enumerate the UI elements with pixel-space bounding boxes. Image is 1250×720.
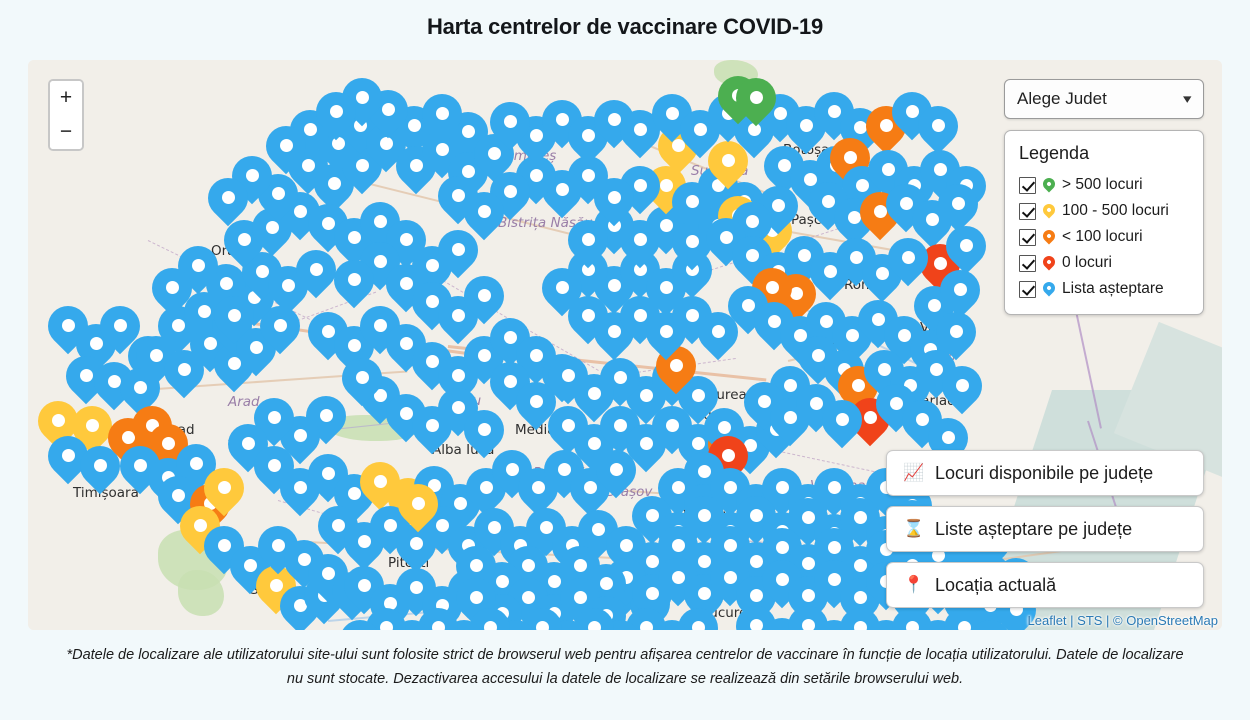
legend-item-label: Lista așteptare [1062, 280, 1164, 298]
pin-center-dot [374, 475, 387, 488]
pin-center-dot [348, 339, 361, 352]
pin-center-dot [462, 125, 475, 138]
map-marker-blue[interactable] [340, 620, 380, 630]
pin-center-dot [452, 309, 465, 322]
chevron-down-icon: ▾ [1183, 91, 1191, 107]
pin-center-dot [294, 481, 307, 494]
pin-center-dot [660, 219, 673, 232]
pin-center-dot [530, 395, 543, 408]
pin-center-dot [244, 559, 257, 572]
orange-pin-icon [1043, 229, 1055, 246]
pin-center-dot [218, 539, 231, 552]
pin-center-dot [672, 571, 685, 584]
pin-center-dot [934, 163, 947, 176]
pin-center-dot [672, 481, 685, 494]
pin-center-dot [694, 123, 707, 136]
pin-center-dot [274, 319, 287, 332]
pin-center-dot [358, 535, 371, 548]
pin-center-dot [952, 197, 965, 210]
chart-icon: 📈 [903, 463, 923, 483]
pin-center-dot [496, 575, 509, 588]
map-marker-blue[interactable] [296, 250, 336, 304]
pin-center-dot [820, 315, 833, 328]
pin-center-dot [828, 573, 841, 586]
pin-center-dot [310, 263, 323, 276]
pin-center-dot [470, 591, 483, 604]
pin-center-dot [634, 123, 647, 136]
pin-center-dot [426, 259, 439, 272]
pin-center-dot [776, 541, 789, 554]
pin-center-dot [800, 119, 813, 132]
pin-center-dot [478, 423, 491, 436]
pin-center-dot [864, 411, 877, 424]
pin-center-dot [750, 555, 763, 568]
pin-center-dot [928, 299, 941, 312]
pin-center-dot [478, 349, 491, 362]
map-marker-blue[interactable] [316, 92, 356, 146]
pin-center-dot [410, 581, 423, 594]
pin-center-dot [582, 129, 595, 142]
pin-center-dot [750, 589, 763, 602]
pin-center-dot [330, 105, 343, 118]
pin-center-dot [750, 91, 763, 104]
legend-item-3[interactable]: 0 locuri [1017, 250, 1191, 276]
pin-center-dot [850, 251, 863, 264]
pin-center-dot [906, 621, 919, 630]
action-button-label: Locuri disponibile pe județe [935, 463, 1153, 484]
pin-center-dot [400, 337, 413, 350]
pin-center-dot [876, 267, 889, 280]
legend-item-label: < 100 locuri [1062, 228, 1143, 246]
pin-center-dot [942, 431, 955, 444]
pin-center-dot [958, 621, 971, 630]
pin-center-dot [52, 414, 65, 427]
hourglass-icon: ⌛ [903, 519, 923, 539]
legend-rows: > 500 locuri100 - 500 locuri< 100 locuri… [1017, 172, 1191, 302]
map-marker-green[interactable] [736, 78, 776, 132]
pin-center-dot [954, 283, 967, 296]
legend-title: Legenda [1019, 143, 1191, 164]
pin-center-dot [556, 113, 569, 126]
pin-center-dot [410, 159, 423, 172]
pin-icon: 📍 [903, 575, 923, 595]
pin-center-dot [772, 199, 785, 212]
pin-center-dot [686, 309, 699, 322]
pin-center-dot [836, 413, 849, 426]
pin-center-dot [452, 243, 465, 256]
pin-center-dot [686, 195, 699, 208]
pin-center-dot [798, 249, 811, 262]
pin-center-dot [114, 319, 127, 332]
map-marker-blue[interactable] [888, 238, 928, 292]
legend-item-2[interactable]: < 100 locuri [1017, 224, 1191, 250]
pin-center-dot [666, 419, 679, 432]
pin-center-dot [374, 215, 387, 228]
pin-center-dot [698, 509, 711, 522]
pin-center-dot [810, 397, 823, 410]
pin-center-dot [742, 299, 755, 312]
map-marker-blue[interactable] [208, 178, 248, 232]
pin-center-dot [588, 387, 601, 400]
pin-center-dot [432, 621, 445, 630]
pin-center-dot [854, 621, 867, 630]
pin-center-dot [802, 619, 815, 630]
map-marker-blue[interactable] [548, 356, 588, 410]
pin-center-dot [272, 539, 285, 552]
pin-center-dot [776, 481, 789, 494]
pin-center-dot [294, 429, 307, 442]
pin-center-dot [882, 163, 895, 176]
pin-center-dot [746, 215, 759, 228]
pin-center-dot [724, 571, 737, 584]
pin-center-dot [660, 325, 673, 338]
pin-center-dot [890, 397, 903, 410]
pin-center-dot [348, 231, 361, 244]
pin-center-dot [646, 555, 659, 568]
pin-center-dot [408, 119, 421, 132]
pin-center-dot [356, 371, 369, 384]
pin-center-dot [724, 481, 737, 494]
pin-center-dot [220, 277, 233, 290]
pin-center-dot [504, 375, 517, 388]
pin-center-dot [588, 621, 601, 630]
pin-center-dot [592, 523, 605, 536]
pin-center-dot [322, 325, 335, 338]
pin-center-dot [640, 389, 653, 402]
map-marker-blue[interactable] [970, 620, 1010, 630]
legend-checkbox[interactable] [1019, 203, 1036, 220]
pin-center-dot [634, 179, 647, 192]
pin-center-dot [356, 91, 369, 104]
pin-center-dot [640, 621, 653, 630]
pin-center-dot [522, 559, 535, 572]
action-button-1[interactable]: ⌛Liste așteptare pe județe [886, 506, 1204, 552]
pin-center-dot [522, 591, 535, 604]
pin-center-dot [382, 103, 395, 116]
map-marker-blue[interactable] [152, 268, 192, 322]
pin-center-dot [802, 557, 815, 570]
pin-center-dot [574, 591, 587, 604]
pin-center-dot [268, 459, 281, 472]
pin-center-dot [426, 295, 439, 308]
pin-center-dot [698, 587, 711, 600]
pin-center-dot [950, 325, 963, 338]
pin-center-dot [758, 395, 771, 408]
action-button-label: Liste așteptare pe județe [935, 519, 1132, 540]
pin-center-dot [828, 481, 841, 494]
pin-center-dot [724, 539, 737, 552]
map-marker-blue[interactable] [542, 268, 582, 322]
pin-center-dot [646, 587, 659, 600]
pin-center-dot [822, 195, 835, 208]
pin-center-dot [556, 281, 569, 294]
zoom-in-button[interactable]: + [50, 81, 82, 115]
pin-center-dot [608, 279, 621, 292]
legend-checkbox[interactable] [1019, 281, 1036, 298]
action-button-label: Locația actuală [935, 575, 1056, 596]
red-pin-icon [1043, 255, 1055, 272]
pin-center-dot [178, 363, 191, 376]
pin-center-dot [956, 379, 969, 392]
pin-center-dot [588, 437, 601, 450]
pin-center-dot [322, 467, 335, 480]
pin-center-dot [698, 465, 711, 478]
pin-center-dot [960, 239, 973, 252]
pin-center-dot [746, 249, 759, 262]
map-marker-blue[interactable] [266, 126, 306, 180]
pin-center-dot [802, 511, 815, 524]
legend-checkbox[interactable] [1019, 177, 1036, 194]
pin-center-dot [86, 419, 99, 432]
pin-center-dot [358, 579, 371, 592]
pin-center-dot [228, 309, 241, 322]
map-container[interactable]: OradeaBihorAradAradTimișoaraTimișHunedoa… [28, 60, 1222, 630]
pin-center-dot [720, 231, 733, 244]
pin-center-dot [380, 621, 393, 630]
pin-center-dot [478, 289, 491, 302]
pin-center-dot [854, 121, 867, 134]
pin-center-dot [582, 233, 595, 246]
pin-center-dot [878, 363, 891, 376]
pin-center-dot [666, 107, 679, 120]
pin-center-dot [614, 371, 627, 384]
pin-center-dot [660, 179, 673, 192]
pin-center-dot [906, 105, 919, 118]
pin-center-dot [846, 329, 859, 342]
pin-center-dot [646, 509, 659, 522]
pin-center-dot [530, 349, 543, 362]
pin-center-dot [778, 159, 791, 172]
pin-center-dot [930, 363, 943, 376]
judet-select-wrapper: Alege Judet ▾ [1004, 79, 1204, 119]
pin-center-dot [480, 481, 493, 494]
pin-center-dot [900, 197, 913, 210]
pin-center-dot [80, 369, 93, 382]
pin-center-dot [854, 559, 867, 572]
pin-center-dot [620, 539, 633, 552]
legend-checkbox[interactable] [1019, 255, 1036, 272]
pin-center-dot [506, 463, 519, 476]
pin-center-dot [784, 379, 797, 392]
pin-center-dot [856, 179, 869, 192]
pin-center-dot [484, 621, 497, 630]
pin-center-dot [692, 621, 705, 630]
pin-center-dot [436, 107, 449, 120]
pin-center-dot [320, 409, 333, 422]
pin-center-dot [536, 621, 549, 630]
pin-center-dot [784, 411, 797, 424]
map-marker-blue[interactable] [822, 400, 862, 454]
map-marker-blue[interactable] [490, 102, 530, 156]
zoom-control[interactable]: + − [48, 79, 84, 151]
legend-item-1[interactable]: 100 - 500 locuri [1017, 198, 1191, 224]
pin-center-dot [768, 315, 781, 328]
pin-center-dot [686, 235, 699, 248]
legend-panel: Legenda > 500 locuri100 - 500 locuri< 10… [1004, 130, 1204, 315]
pin-center-dot [384, 519, 397, 532]
pin-center-dot [488, 521, 501, 534]
pin-center-dot [532, 481, 545, 494]
action-button-2[interactable]: 📍Locația actuală [886, 562, 1204, 608]
pin-center-dot [238, 233, 251, 246]
judet-select-label: Alege Judet [1017, 89, 1107, 109]
judet-select[interactable]: Alege Judet ▾ [1004, 79, 1204, 119]
pin-center-dot [172, 489, 185, 502]
pin-center-dot [932, 119, 945, 132]
pin-center-dot [608, 325, 621, 338]
pin-center-dot [166, 281, 179, 294]
pin-center-dot [574, 559, 587, 572]
pin-center-dot [902, 251, 915, 264]
pin-center-dot [854, 511, 867, 524]
pin-center-dot [718, 421, 731, 434]
pin-center-dot [374, 319, 387, 332]
legend-item-label: > 500 locuri [1062, 176, 1143, 194]
legend-checkbox[interactable] [1019, 229, 1036, 246]
pin-center-dot [634, 233, 647, 246]
pin-center-dot [328, 177, 341, 190]
pin-center-dot [94, 459, 107, 472]
pin-center-dot [558, 463, 571, 476]
pin-center-dot [322, 217, 335, 230]
pin-center-dot [722, 154, 735, 167]
pin-center-dot [192, 259, 205, 272]
pin-center-dot [916, 413, 929, 426]
pin-center-dot [672, 539, 685, 552]
pin-center-dot [812, 349, 825, 362]
map-marker-yellow[interactable] [398, 484, 438, 538]
zoom-out-button[interactable]: − [50, 115, 82, 149]
map-attribution[interactable]: Leaflet | STS | © OpenStreetMap [1028, 613, 1218, 628]
pin-center-dot [374, 255, 387, 268]
pin-center-dot [750, 619, 763, 630]
pin-center-dot [280, 139, 293, 152]
pin-center-dot [934, 257, 947, 270]
map-marker-blue[interactable] [942, 366, 982, 420]
pin-center-dot [828, 105, 841, 118]
pin-center-dot [530, 129, 543, 142]
pin-center-dot [776, 573, 789, 586]
pin-center-dot [852, 379, 865, 392]
pin-center-dot [614, 419, 627, 432]
pin-center-dot [504, 185, 517, 198]
pin-center-dot [426, 355, 439, 368]
pin-center-dot [600, 577, 613, 590]
pin-center-dot [400, 407, 413, 420]
pin-center-dot [478, 205, 491, 218]
pin-center-dot [898, 329, 911, 342]
pin-center-dot [828, 541, 841, 554]
pin-center-dot [556, 183, 569, 196]
pin-center-dot [802, 589, 815, 602]
map-marker-blue[interactable] [438, 176, 478, 230]
pin-center-dot [640, 437, 653, 450]
pin-center-dot [582, 309, 595, 322]
pin-center-dot [134, 459, 147, 472]
pin-center-dot [162, 437, 175, 450]
pin-center-dot [872, 313, 885, 326]
pin-center-dot [272, 187, 285, 200]
pin-center-dot [222, 191, 235, 204]
footer-note: *Datele de localizare ale utilizatorului… [60, 644, 1190, 692]
pin-center-dot [426, 419, 439, 432]
pin-center-dot [62, 449, 75, 462]
action-buttons: 📈Locuri disponibile pe județe⌛Liste aște… [886, 450, 1204, 608]
pin-center-dot [282, 279, 295, 292]
pin-center-dot [880, 119, 893, 132]
action-button-0[interactable]: 📈Locuri disponibile pe județe [886, 450, 1204, 496]
pin-center-dot [634, 309, 647, 322]
pin-center-dot [348, 273, 361, 286]
pin-center-dot [410, 537, 423, 550]
legend-item-label: 100 - 500 locuri [1062, 202, 1169, 220]
pin-center-dot [562, 369, 575, 382]
pin-center-dot [412, 497, 425, 510]
pin-center-dot [608, 113, 621, 126]
pin-center-dot [452, 189, 465, 202]
pin-center-dot [874, 205, 887, 218]
pin-center-dot [268, 411, 281, 424]
pin-center-dot [698, 555, 711, 568]
page-root: Harta centrelor de vaccinare COVID-19 [0, 0, 1250, 720]
pin-center-dot [452, 401, 465, 414]
green-pin-icon [1043, 177, 1055, 194]
pin-center-dot [530, 169, 543, 182]
pin-center-dot [190, 457, 203, 470]
map-marker-blue[interactable] [422, 94, 462, 148]
pin-center-dot [584, 481, 597, 494]
pin-center-dot [844, 151, 857, 164]
pin-center-dot [62, 319, 75, 332]
pin-center-dot [750, 509, 763, 522]
pin-center-dot [504, 331, 517, 344]
pin-center-dot [562, 419, 575, 432]
pin-center-dot [712, 325, 725, 338]
page-title: Harta centrelor de vaccinare COVID-19 [0, 14, 1250, 40]
map-marker-blue[interactable] [342, 358, 382, 412]
legend-item-label: 0 locuri [1062, 254, 1112, 272]
pin-center-dot [824, 265, 837, 278]
pin-center-dot [854, 591, 867, 604]
pin-center-dot [692, 437, 705, 450]
pin-center-dot [242, 437, 255, 450]
pin-center-dot [400, 233, 413, 246]
pin-center-dot [608, 191, 621, 204]
legend-item-0[interactable]: > 500 locuri [1017, 172, 1191, 198]
pin-center-dot [582, 169, 595, 182]
blue-pin-icon [1043, 281, 1055, 298]
pin-center-dot [348, 487, 361, 500]
pin-center-dot [540, 521, 553, 534]
legend-item-4[interactable]: Lista așteptare [1017, 276, 1191, 302]
pin-center-dot [452, 369, 465, 382]
pin-center-dot [400, 277, 413, 290]
pin-center-dot [332, 519, 345, 532]
pin-center-dot [548, 575, 561, 588]
pin-center-dot [660, 281, 673, 294]
pin-center-dot [470, 559, 483, 572]
pin-center-dot [926, 213, 939, 226]
pin-center-dot [504, 115, 517, 128]
yellow-pin-icon [1043, 203, 1055, 220]
pin-center-dot [218, 481, 231, 494]
